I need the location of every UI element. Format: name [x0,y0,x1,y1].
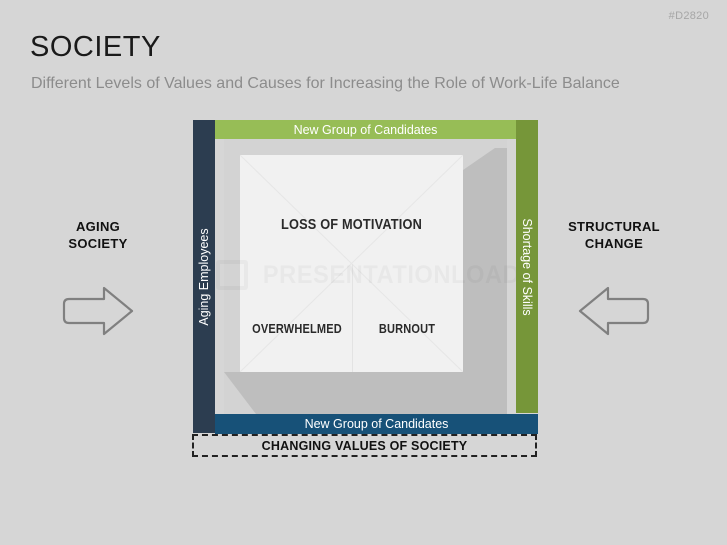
bar-shortage-of-skills-label: Shortage of Skills [520,218,534,315]
bar-aging-employees[interactable]: Aging Employees [193,120,215,433]
left-caption-line1: AGING [28,218,168,235]
label-overwhelmed: OVERWHELMED [249,322,346,336]
bar-shortage-of-skills[interactable]: Shortage of Skills [516,120,538,413]
arrow-right-icon [60,285,136,342]
left-caption: AGING SOCIETY [28,218,168,252]
page-subtitle: Different Levels of Values and Causes fo… [31,75,620,93]
page-title: SOCIETY [30,31,161,64]
inner-panel: LOSS OF MOTIVATION OVERWHELMED BURNOUT [240,155,463,372]
right-caption-line1: STRUCTURAL [544,218,684,235]
changing-values-label: CHANGING VALUES OF SOCIETY [262,439,468,453]
changing-values-box[interactable]: CHANGING VALUES OF SOCIETY [192,434,537,457]
right-caption-line2: CHANGE [544,235,684,252]
slide-canvas: #D2820 SOCIETY Different Levels of Value… [0,0,727,545]
arrow-left-icon [576,285,652,342]
label-loss-of-motivation: LOSS OF MOTIVATION [253,217,449,233]
bar-new-group-bottom[interactable]: New Group of Candidates [215,414,538,434]
right-caption: STRUCTURAL CHANGE [544,218,684,252]
society-diagram: LOSS OF MOTIVATION OVERWHELMED BURNOUT P… [193,120,538,460]
bar-new-group-top-label: New Group of Candidates [294,123,438,137]
left-caption-line2: SOCIETY [28,235,168,252]
panel-divider [352,264,353,373]
bar-aging-employees-label: Aging Employees [197,228,211,325]
document-id: #D2820 [669,10,709,22]
label-burnout: BURNOUT [359,322,456,336]
frame-shadow-right [463,148,507,414]
bar-new-group-bottom-label: New Group of Candidates [305,417,449,431]
bar-new-group-top[interactable]: New Group of Candidates [215,120,516,139]
